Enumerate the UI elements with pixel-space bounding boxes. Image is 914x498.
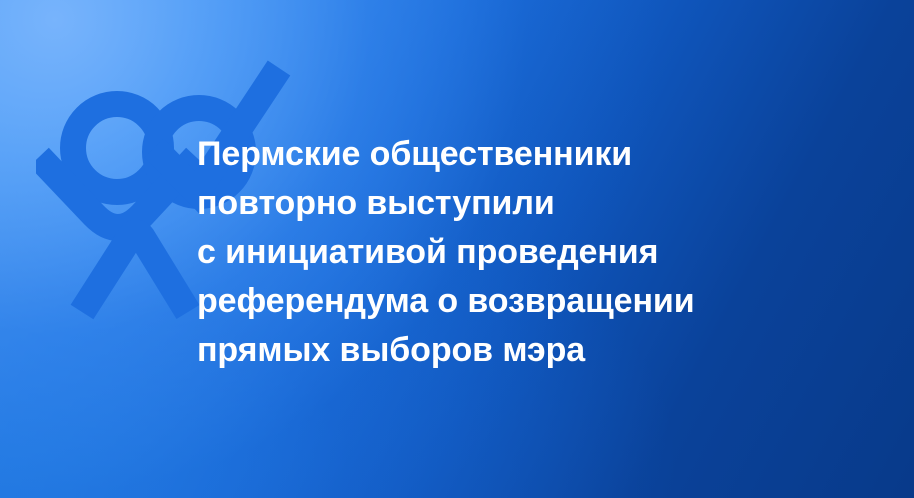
- banner-card: Пермские общественники повторно выступил…: [0, 0, 914, 498]
- headline-block: Пермские общественники повторно выступил…: [197, 130, 897, 375]
- logo-legs: [82, 233, 188, 312]
- headline-line-2: повторно выступили: [197, 179, 897, 228]
- headline-line-3: с инициативой проведения: [197, 228, 897, 277]
- headline-line-4: референдума о возвращении: [197, 277, 897, 326]
- headline-line-1: Пермские общественники: [197, 130, 897, 179]
- headline-line-5: прямых выборов мэра: [197, 326, 897, 375]
